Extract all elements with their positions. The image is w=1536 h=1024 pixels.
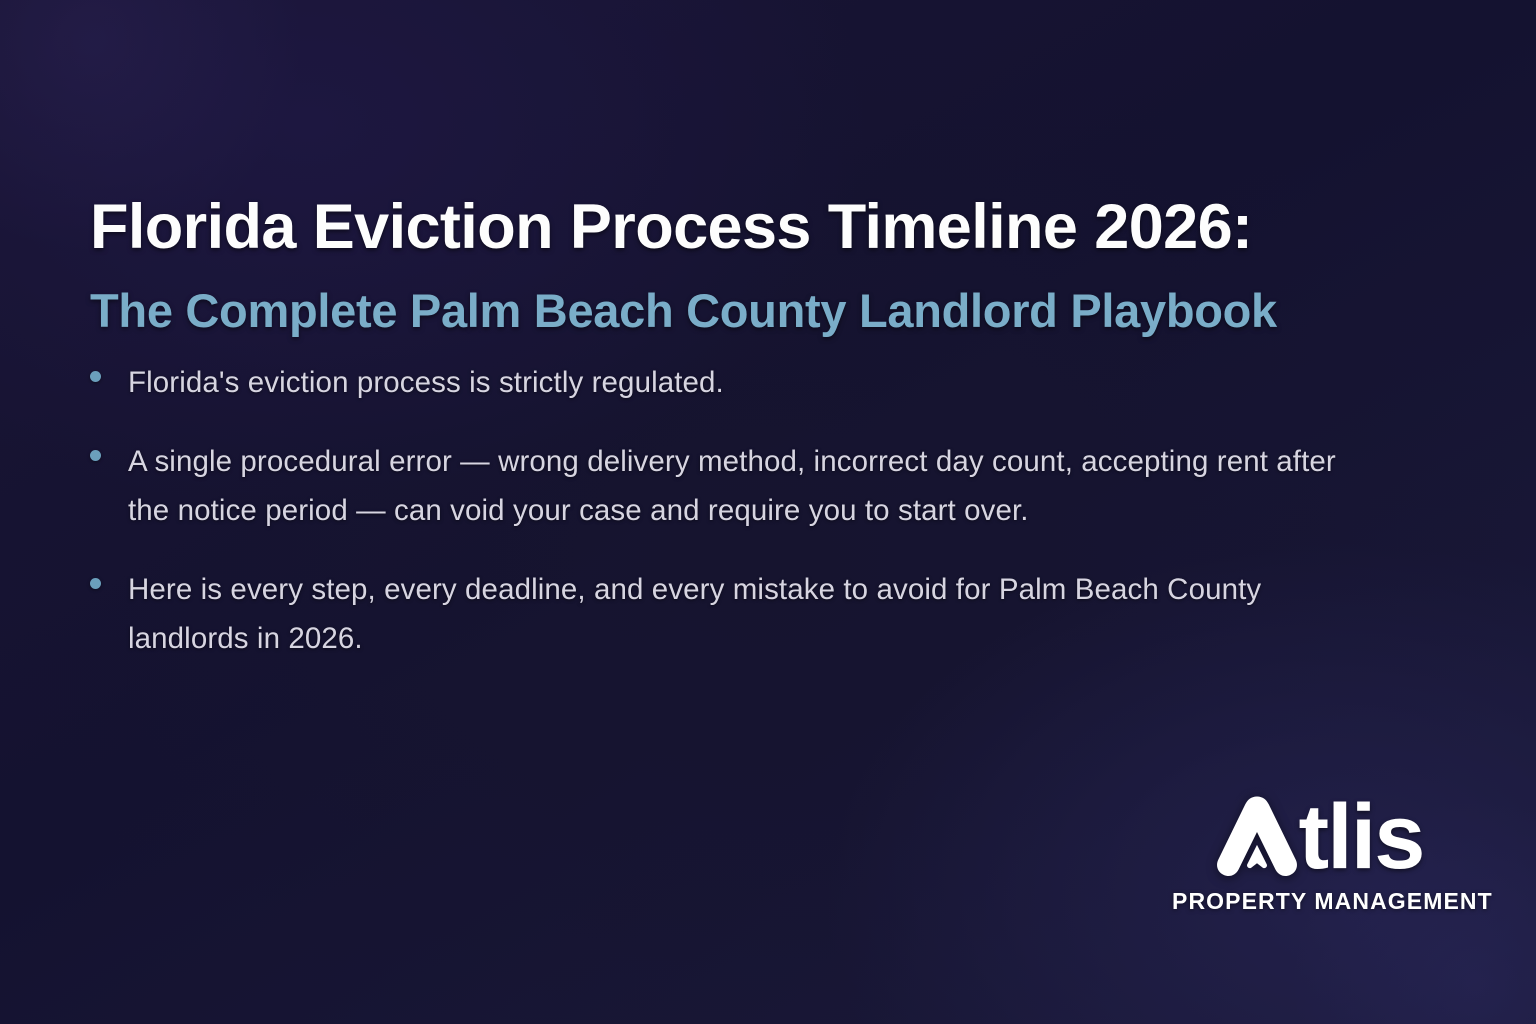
bullet-text: A single procedural error — wrong delive… bbox=[128, 437, 1365, 535]
presentation-slide: Florida Eviction Process Timeline 2026: … bbox=[0, 0, 1536, 1024]
logo-wordmark: tlis bbox=[1172, 788, 1462, 886]
slide-subtitle: The Complete Palm Beach County Landlord … bbox=[90, 285, 1420, 337]
bullet-dot-icon bbox=[90, 371, 101, 382]
bullet-text: Florida's eviction process is strictly r… bbox=[128, 358, 1365, 407]
bullet-dot-icon bbox=[90, 450, 101, 461]
logo-tagline: PROPERTY MANAGEMENT bbox=[1172, 888, 1462, 915]
list-item: A single procedural error — wrong delive… bbox=[90, 437, 1365, 535]
bullet-text: Here is every step, every deadline, and … bbox=[128, 565, 1365, 663]
bullet-list: Florida's eviction process is strictly r… bbox=[90, 358, 1365, 693]
company-logo: tlis PROPERTY MANAGEMENT bbox=[1172, 788, 1462, 915]
atlis-a-mark-icon bbox=[1211, 791, 1303, 883]
bullet-dot-icon bbox=[90, 578, 101, 589]
slide-title: Florida Eviction Process Timeline 2026: bbox=[90, 194, 1420, 261]
list-item: Here is every step, every deadline, and … bbox=[90, 565, 1365, 663]
list-item: Florida's eviction process is strictly r… bbox=[90, 358, 1365, 407]
logo-wordmark-text: tlis bbox=[1299, 791, 1424, 883]
